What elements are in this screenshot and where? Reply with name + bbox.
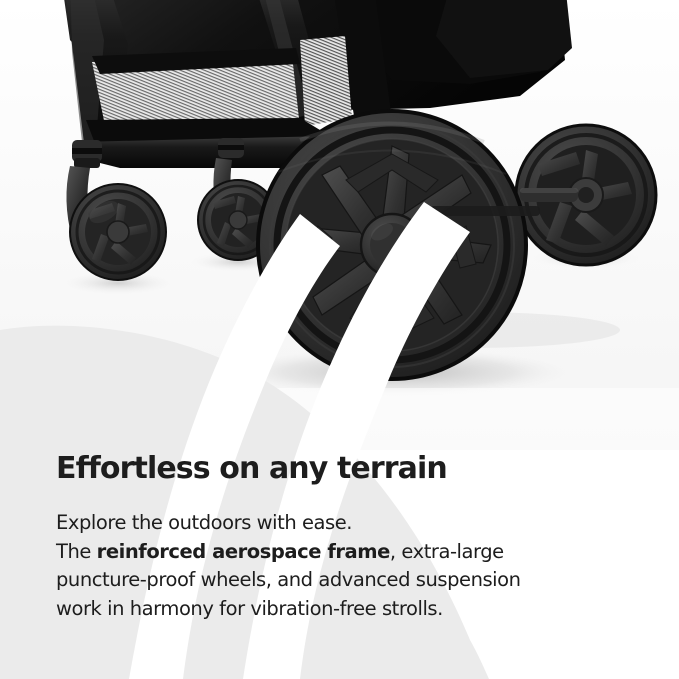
feature-card: Effortless on any terrain Explore the ou… [0,0,679,679]
body-line-3: puncture-proof wheels, and advanced susp… [56,566,646,595]
body-line-2-prefix: The [56,540,97,563]
rear-wheel-right [516,125,656,265]
body-line-2: The reinforced aerospace frame, extra-la… [56,538,646,567]
rear-wheel-main [258,111,526,379]
body-copy: Explore the outdoors with ease. The rein… [56,509,646,624]
body-line-4: work in harmony for vibration-free strol… [56,595,646,624]
stroller-illustration [0,0,679,450]
page-title: Effortless on any terrain [56,452,646,485]
body-line-2-suffix: , extra-large [390,540,504,563]
body-line-1: Explore the outdoors with ease. [56,509,646,538]
body-line-2-emphasis: reinforced aerospace frame [97,540,390,563]
text-block: Effortless on any terrain Explore the ou… [56,452,646,624]
product-photo [0,0,679,450]
